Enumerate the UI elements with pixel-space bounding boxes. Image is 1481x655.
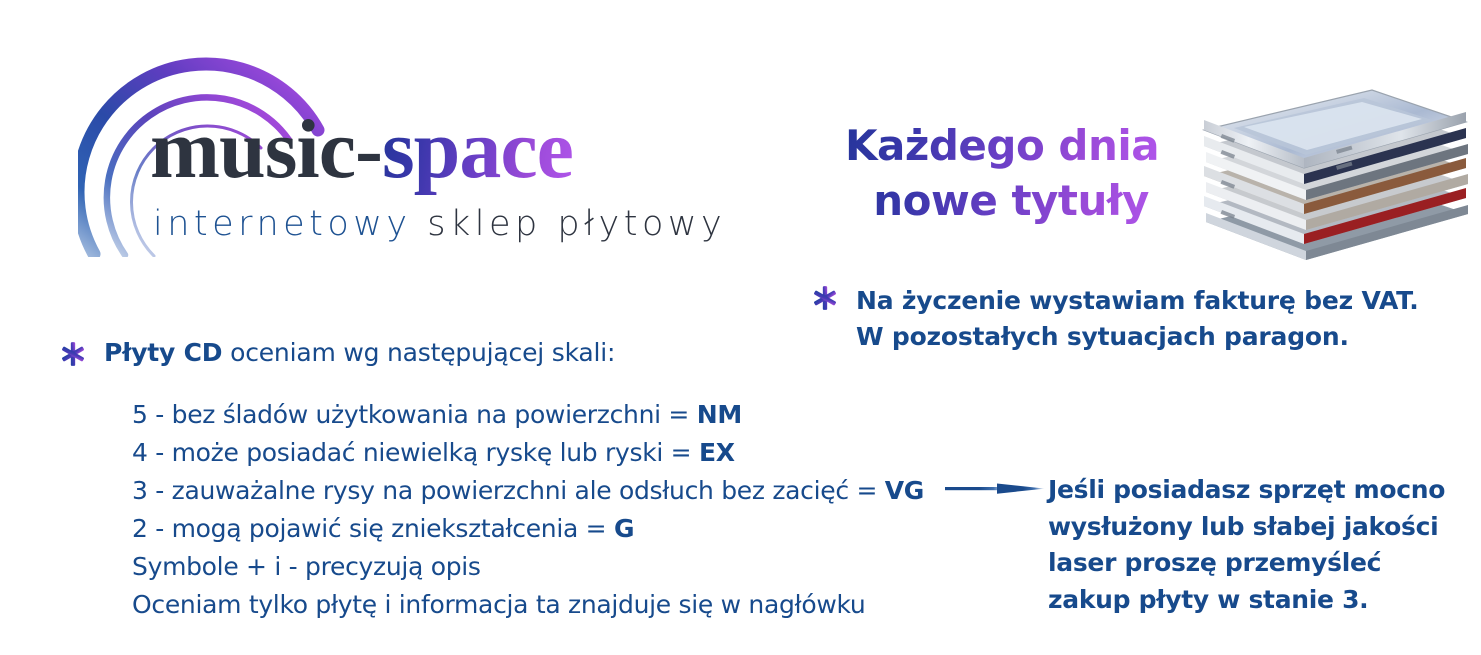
scale-item-grade: VG bbox=[885, 476, 924, 505]
logo-subtitle-part1: internetowy bbox=[153, 204, 412, 244]
list-item: 2 - mogą pojawić się zniekształcenia = G bbox=[132, 510, 960, 548]
logo-subtitle: internetowy sklep płytowy bbox=[153, 204, 726, 244]
headline-line-1: Każdego dnia bbox=[845, 118, 1159, 173]
logo-wordmark-space: space bbox=[382, 103, 573, 196]
list-item: 5 - bez śladów użytkowania na powierzchn… bbox=[132, 396, 960, 434]
scale-item-grade: EX bbox=[699, 438, 735, 467]
scale-item-text: 4 - może posiadać niewielką ryskę lub ry… bbox=[132, 438, 699, 467]
vat-note-line-1: Na życzenie wystawiam fakturę bez VAT. bbox=[856, 283, 1412, 319]
asterisk-bullet-scale bbox=[60, 341, 86, 367]
logo-wordmark-dash: - bbox=[355, 103, 382, 196]
grading-scale-heading-bold: Płyty CD bbox=[104, 338, 222, 367]
logo-wordmark: music-space bbox=[150, 108, 573, 192]
list-item: 4 - może posiadać niewielką ryskę lub ry… bbox=[132, 434, 960, 472]
headline: Każdego dnia nowe tytuły bbox=[845, 118, 1159, 229]
grading-scale-heading-rest: oceniam wg następującej skali: bbox=[222, 338, 615, 367]
grading-scale-block: Płyty CD oceniam wg następującej skali: … bbox=[60, 338, 960, 624]
logo-subtitle-part2: sklep płytowy bbox=[412, 204, 727, 244]
grading-scale-list: 5 - bez śladów użytkowania na powierzchn… bbox=[132, 396, 960, 624]
list-item: Symbole + i - precyzują opis bbox=[132, 548, 960, 586]
logo-wordmark-music: music bbox=[150, 103, 355, 196]
scale-item-text: Oceniam tylko płytę i informacja ta znaj… bbox=[132, 590, 865, 619]
grading-scale-heading-text: Płyty CD oceniam wg następującej skali: bbox=[104, 338, 960, 367]
scale-item-text: 3 - zauważalne rysy na powierzchni ale o… bbox=[132, 476, 885, 505]
scale-item-grade: NM bbox=[697, 400, 742, 429]
side-note-line-1: Jeśli posiadasz sprzęt mocno bbox=[1048, 472, 1445, 509]
scale-item-text: Symbole + i - precyzują opis bbox=[132, 552, 481, 581]
cd-jewel-case-stack-image bbox=[1186, 62, 1474, 267]
side-note-line-4: zakup płyty w stanie 3. bbox=[1048, 582, 1445, 619]
scale-item-text: 5 - bez śladów użytkowania na powierzchn… bbox=[132, 400, 697, 429]
side-note-line-3: laser proszę przemyśleć bbox=[1048, 545, 1445, 582]
grading-scale-heading: Płyty CD oceniam wg następującej skali: bbox=[60, 338, 960, 382]
brand-logo[interactable]: music-space internetowy sklep płytowy bbox=[78, 22, 778, 257]
side-note-line-2: wysłużony lub słabej jakości bbox=[1048, 509, 1445, 546]
side-note: Jeśli posiadasz sprzęt mocno wysłużony l… bbox=[1048, 472, 1445, 618]
asterisk-bullet-icon bbox=[60, 341, 86, 367]
asterisk-bullet-icon bbox=[812, 285, 838, 311]
asterisk-bullet-vat bbox=[812, 285, 842, 311]
arrow-right-icon bbox=[945, 478, 1045, 500]
list-item: Oceniam tylko płytę i informacja ta znaj… bbox=[132, 586, 960, 624]
list-item: 3 - zauważalne rysy na powierzchni ale o… bbox=[132, 472, 960, 510]
headline-line-2: nowe tytuły bbox=[845, 173, 1159, 228]
scale-item-grade: G bbox=[614, 514, 634, 543]
page-canvas: music-space internetowy sklep płytowy Ka… bbox=[0, 0, 1481, 655]
scale-item-text: 2 - mogą pojawić się zniekształcenia = bbox=[132, 514, 614, 543]
